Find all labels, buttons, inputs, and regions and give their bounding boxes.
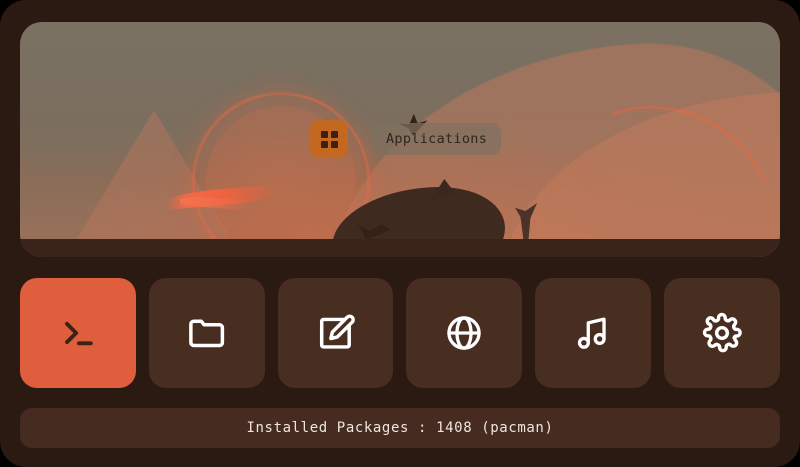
dock-item-text-editor[interactable]	[278, 278, 394, 388]
dock-item-terminal[interactable]	[20, 278, 136, 388]
dock-item-files[interactable]	[149, 278, 265, 388]
dock-item-web-browser[interactable]	[406, 278, 522, 388]
launcher-window: Applications	[0, 0, 800, 467]
edit-icon	[314, 311, 358, 355]
music-icon	[572, 312, 614, 354]
globe-icon	[443, 312, 485, 354]
applications-tooltip: Applications	[372, 123, 501, 155]
app-dock	[20, 278, 780, 388]
folder-icon	[185, 311, 229, 355]
grid-icon	[321, 131, 338, 148]
dock-item-music[interactable]	[535, 278, 651, 388]
terminal-icon	[56, 311, 100, 355]
status-bar: Installed Packages : 1408 (pacman)	[20, 408, 780, 448]
dock-item-settings[interactable]	[664, 278, 780, 388]
gear-icon	[700, 311, 744, 355]
applications-launcher-button[interactable]	[310, 120, 348, 158]
installed-packages-text: Installed Packages : 1408 (pacman)	[247, 420, 554, 436]
wallpaper-ground-band	[20, 239, 780, 257]
